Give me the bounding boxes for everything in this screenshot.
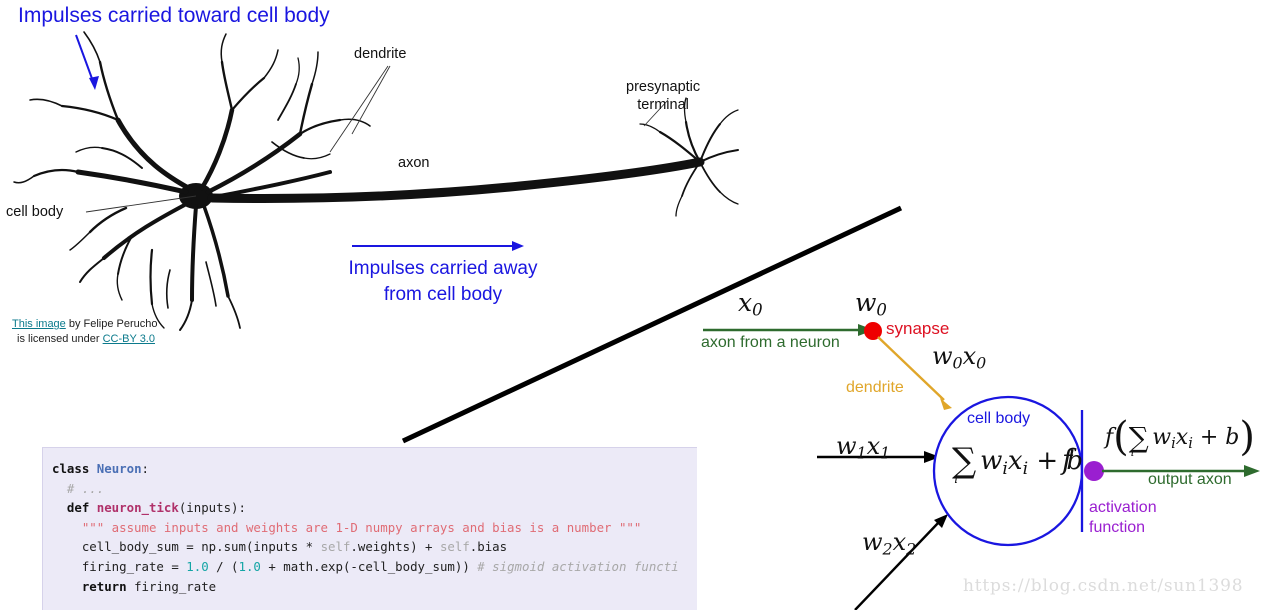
code-kw-class: class: [52, 461, 89, 476]
out-f: f: [1105, 425, 1113, 450]
python-code-block[interactable]: class Neuron: # ... def neuron_tick(inpu…: [42, 447, 697, 610]
x0-sub: 0: [752, 301, 763, 320]
label-w2x2: w2x2: [862, 528, 916, 558]
sigma-index: i: [954, 472, 958, 486]
code-func-name: neuron_tick: [97, 500, 179, 515]
label-x0: x0: [738, 288, 763, 320]
activation-line1: activation: [1089, 499, 1157, 516]
activation-line2: function: [1089, 519, 1145, 536]
code-line5-e: .bias: [470, 539, 507, 554]
code-self-2: self: [440, 539, 470, 554]
w1x1-sub1: 1: [857, 443, 867, 462]
code-func-args: (inputs):: [179, 500, 246, 515]
attribution-image-link[interactable]: This image: [12, 318, 66, 330]
w0-sym: w: [855, 288, 876, 317]
w2x2-sub1: 2: [883, 539, 893, 558]
presynaptic-line2: terminal: [637, 97, 689, 113]
code-kw-return: return: [52, 579, 127, 594]
w2x2-sub2: 2: [906, 539, 916, 558]
code-num-1: 1.0: [186, 559, 208, 574]
code-line5-a: cell_body_sum = np.sum(inputs *: [52, 539, 321, 554]
w0x0-x: x: [963, 342, 977, 370]
label-cell-body-artificial: cell body: [967, 410, 1030, 428]
x0-sym: x: [738, 288, 752, 317]
label-output-axon: output axon: [1148, 471, 1232, 489]
code-kw-def: def: [52, 500, 97, 515]
w0x0-w: w: [932, 342, 953, 370]
out-paren-open: (: [1113, 414, 1129, 460]
watermark: https://blog.csdn.net/sun1398: [963, 576, 1243, 596]
label-synapse: synapse: [886, 319, 949, 339]
label-axon-from-neuron: axon from a neuron: [701, 334, 840, 352]
code-comment-ellipsis: # ...: [52, 481, 104, 496]
w0x0-sub2: 0: [976, 353, 986, 372]
label-dendrite: dendrite: [354, 46, 406, 62]
code-line6-c: + math.exp(-cell_body_sum)): [261, 559, 477, 574]
slide-canvas: Impulses carried toward cell body Impuls…: [0, 0, 1265, 610]
code-line6-a: firing_rate =: [52, 559, 186, 574]
out-paren-close: ): [1239, 414, 1255, 460]
code-content: class Neuron: # ... def neuron_tick(inpu…: [43, 448, 697, 596]
code-class-name: Neuron: [89, 461, 141, 476]
code-docstring: """ assume inputs and weights are 1-D nu…: [52, 520, 641, 535]
label-w1x1: w1x1: [836, 432, 890, 462]
w1x1-w: w: [836, 432, 857, 460]
output-expression: f(∑iwixi + b): [1105, 408, 1255, 454]
w0x0-sub1: 0: [953, 353, 963, 372]
presynaptic-line1: presynaptic: [626, 79, 700, 95]
attribution-license-link[interactable]: CC-BY 3.0: [103, 333, 155, 345]
w2x2-w: w: [862, 528, 883, 556]
code-line5-c: .weights) +: [350, 539, 440, 554]
attribution-author: by Felipe Perucho: [66, 318, 158, 330]
label-presynaptic-terminal: presynaptic terminal: [626, 78, 700, 114]
activation-f-symbol: f: [1062, 443, 1072, 476]
sum-w: w: [980, 446, 1002, 476]
w2x2-x: x: [893, 528, 907, 556]
label-dendrite-artificial: dendrite: [846, 379, 904, 397]
label-activation-function: activation function: [1089, 498, 1157, 538]
label-w0: w0: [855, 288, 887, 320]
code-colon: :: [142, 461, 149, 476]
code-sigmoid-comment: # sigmoid activation functi: [477, 559, 678, 574]
sum-plus-b: + b: [1028, 446, 1083, 476]
code-self-1: self: [321, 539, 351, 554]
out-x: x: [1176, 425, 1188, 450]
w0-sub: 0: [876, 301, 887, 320]
label-axon: axon: [398, 155, 429, 171]
code-num-2: 1.0: [239, 559, 261, 574]
out-sigma-index: i: [1131, 446, 1135, 459]
label-w0x0: w0x0: [932, 342, 986, 372]
impulses-toward-title: Impulses carried toward cell body: [18, 4, 330, 28]
label-cell-body: cell body: [6, 204, 63, 220]
out-w: w: [1152, 425, 1171, 450]
attribution: This image by Felipe Perucho is licensed…: [12, 317, 158, 347]
code-return-value: firing_rate: [127, 579, 217, 594]
out-plus-b: + b: [1193, 425, 1240, 450]
w1x1-x: x: [867, 432, 881, 460]
sum-x: x: [1008, 446, 1023, 476]
w1x1-sub2: 1: [880, 443, 890, 462]
code-line6-b: / (: [209, 559, 239, 574]
attribution-license-line: is licensed under CC-BY 3.0: [12, 332, 158, 347]
impulses-toward-arrow: [76, 35, 99, 90]
activation-output-dot: [1084, 461, 1104, 481]
attribution-license-text: is licensed under: [17, 333, 103, 345]
